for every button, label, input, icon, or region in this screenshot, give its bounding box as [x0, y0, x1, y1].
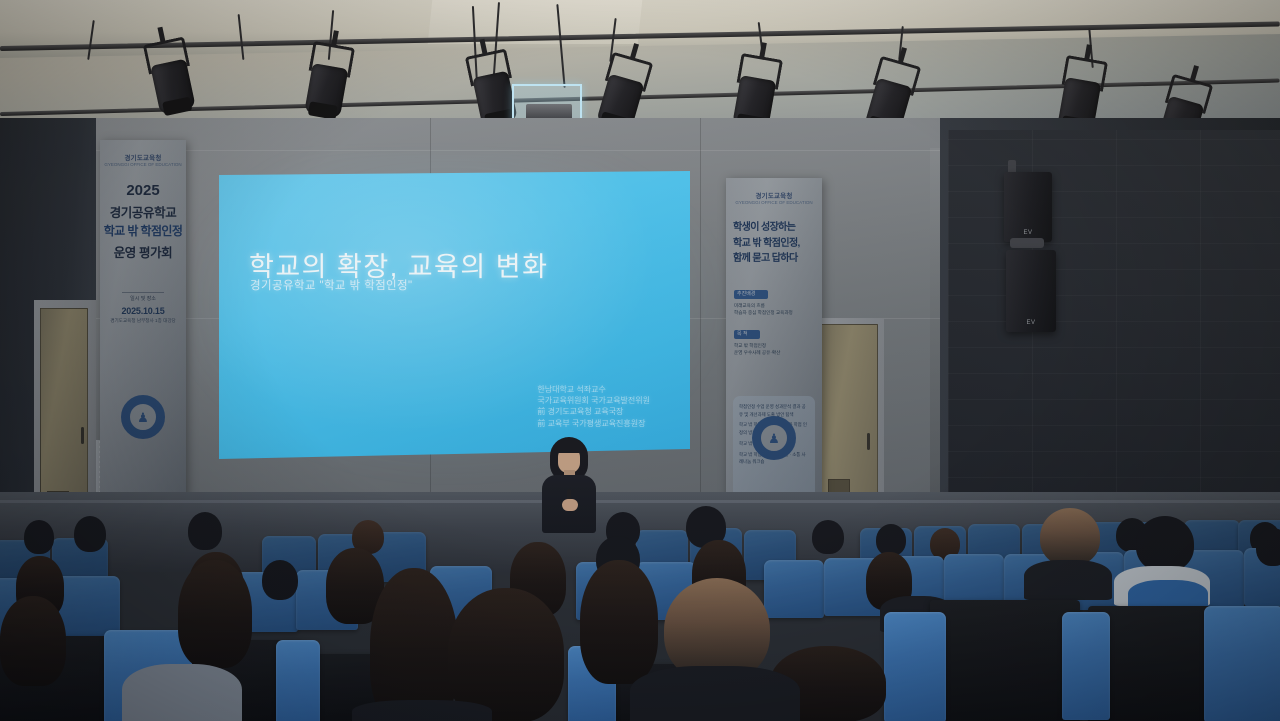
seat[interactable] — [276, 640, 320, 721]
slide-credits: 한남대학교 석좌교수 국가교육위원회 국가교육발전위원 前 경기도교육청 교육국… — [537, 384, 650, 429]
person-emblem-icon: ♟ — [137, 411, 149, 424]
banner-tag-2-line: 학교 밖 학점인정 — [734, 342, 816, 349]
slide-subtitle: 경기공유학교 "학교 밖 학점인정" — [250, 277, 413, 293]
audience-shoulders — [630, 666, 800, 721]
photo-scene: EV EV 학교의 확장, 교육의 변화 경기공유학교 "학교 밖 학점인정" … — [0, 0, 1280, 721]
banner-tag-2-label: 목 적 — [737, 330, 816, 339]
speaker-brand-label: EV — [1026, 320, 1035, 326]
slide-credit-line: 한남대학교 석좌교수 — [537, 384, 650, 395]
person-emblem-icon: ♟ — [768, 432, 780, 445]
audience-head — [24, 520, 54, 554]
door-handle[interactable] — [867, 433, 870, 450]
presenter — [536, 437, 602, 532]
door-handle[interactable] — [81, 427, 84, 444]
banner-headline-line: 학교 밖 학점인정, — [733, 236, 815, 252]
presenter-hands — [562, 499, 578, 511]
audience-head — [188, 512, 222, 550]
slide-credit-line: 前 교육부 국가평생교육진흥원장 — [537, 418, 650, 429]
presenter-hair-fringe — [554, 439, 584, 453]
banner-headline: 학생이 성장하는 학교 밖 학점인정, 함께 묻고 답하다 — [733, 220, 815, 267]
audience-shoulders — [352, 700, 492, 721]
seat[interactable] — [1062, 612, 1110, 720]
audience-head — [178, 560, 252, 668]
seat[interactable] — [764, 560, 824, 618]
audience-head — [1256, 528, 1280, 566]
banner-tag-1-label: 추진배경 — [737, 290, 816, 299]
audience-head — [580, 560, 658, 684]
event-banner-left: 경기도교육청 GYEONGGI OFFICE OF EDUCATION 2025… — [100, 140, 186, 550]
banner-meta-label: 일시 및 장소 — [122, 292, 164, 302]
banner-circle-emblem: ♟ — [752, 416, 796, 460]
wall-speaker-upper: EV — [1004, 172, 1052, 242]
speaker-brand-label: EV — [1023, 230, 1032, 236]
slide-credit-line: 前 경기도교육청 교육국장 — [537, 406, 650, 417]
banner-line-1: 경기공유학교 — [100, 202, 186, 221]
projection-screen: 학교의 확장, 교육의 변화 경기공유학교 "학교 밖 학점인정" 한남대학교 … — [219, 171, 690, 459]
banner-event-place: 경기도교육청 남부청사 1층 대강당 — [100, 318, 186, 324]
audience-head — [1040, 508, 1100, 566]
stage-front-edge — [0, 500, 1280, 503]
audience-head — [812, 520, 844, 554]
banner-tag-1-line: 학습자 중심 학점인정 교육과정 — [734, 309, 816, 316]
banner-line-3: 운영 평가회 — [100, 242, 186, 261]
seat[interactable] — [1204, 606, 1280, 721]
banner-logo-text: 경기도교육청 — [726, 190, 822, 200]
audience-head — [262, 560, 298, 600]
slide-credit-line: 국가교육위원회 국가교육발전위원 — [537, 395, 650, 406]
wall-speaker-lower: EV — [1006, 250, 1056, 332]
audience-head — [370, 568, 458, 721]
banner-logo-subtext: GYEONGGI OFFICE OF EDUCATION — [726, 200, 822, 205]
banner-year: 2025 — [100, 182, 186, 199]
audience-shoulders — [122, 664, 242, 721]
banner-tag-1-text: 미래교육의 흐름 학습자 중심 학점인정 교육과정 — [734, 302, 816, 317]
audience-shoulders — [1024, 560, 1112, 600]
seat[interactable] — [884, 612, 946, 721]
seat-back-panel[interactable] — [930, 600, 1080, 721]
banner-line-2: 학교 밖 학점인정 — [100, 222, 186, 239]
banner-tag-2-line: 운영 우수사례 공유·확산 — [734, 349, 816, 356]
banner-logo-subtext: GYEONGGI OFFICE OF EDUCATION — [100, 162, 186, 167]
acoustic-panel-right — [948, 130, 1280, 530]
banner-headline-line: 학생이 성장하는 — [733, 220, 815, 236]
banner-tag-2-text: 학교 밖 학점인정 운영 우수사례 공유·확산 — [734, 342, 816, 357]
speaker-bracket — [1010, 238, 1044, 248]
banner-circle-emblem: ♟ — [121, 395, 165, 439]
banner-logo-text: 경기도교육청 — [100, 152, 186, 162]
banner-tag-1-line: 미래교육의 흐름 — [734, 302, 816, 309]
audience-head — [74, 516, 106, 552]
exit-door-left[interactable] — [40, 308, 88, 520]
banner-headline-line: 함께 묻고 답하다 — [733, 251, 815, 267]
audience-head — [1136, 516, 1194, 572]
audience-head — [0, 596, 66, 686]
banner-event-date: 2025.10.15 — [100, 306, 186, 316]
